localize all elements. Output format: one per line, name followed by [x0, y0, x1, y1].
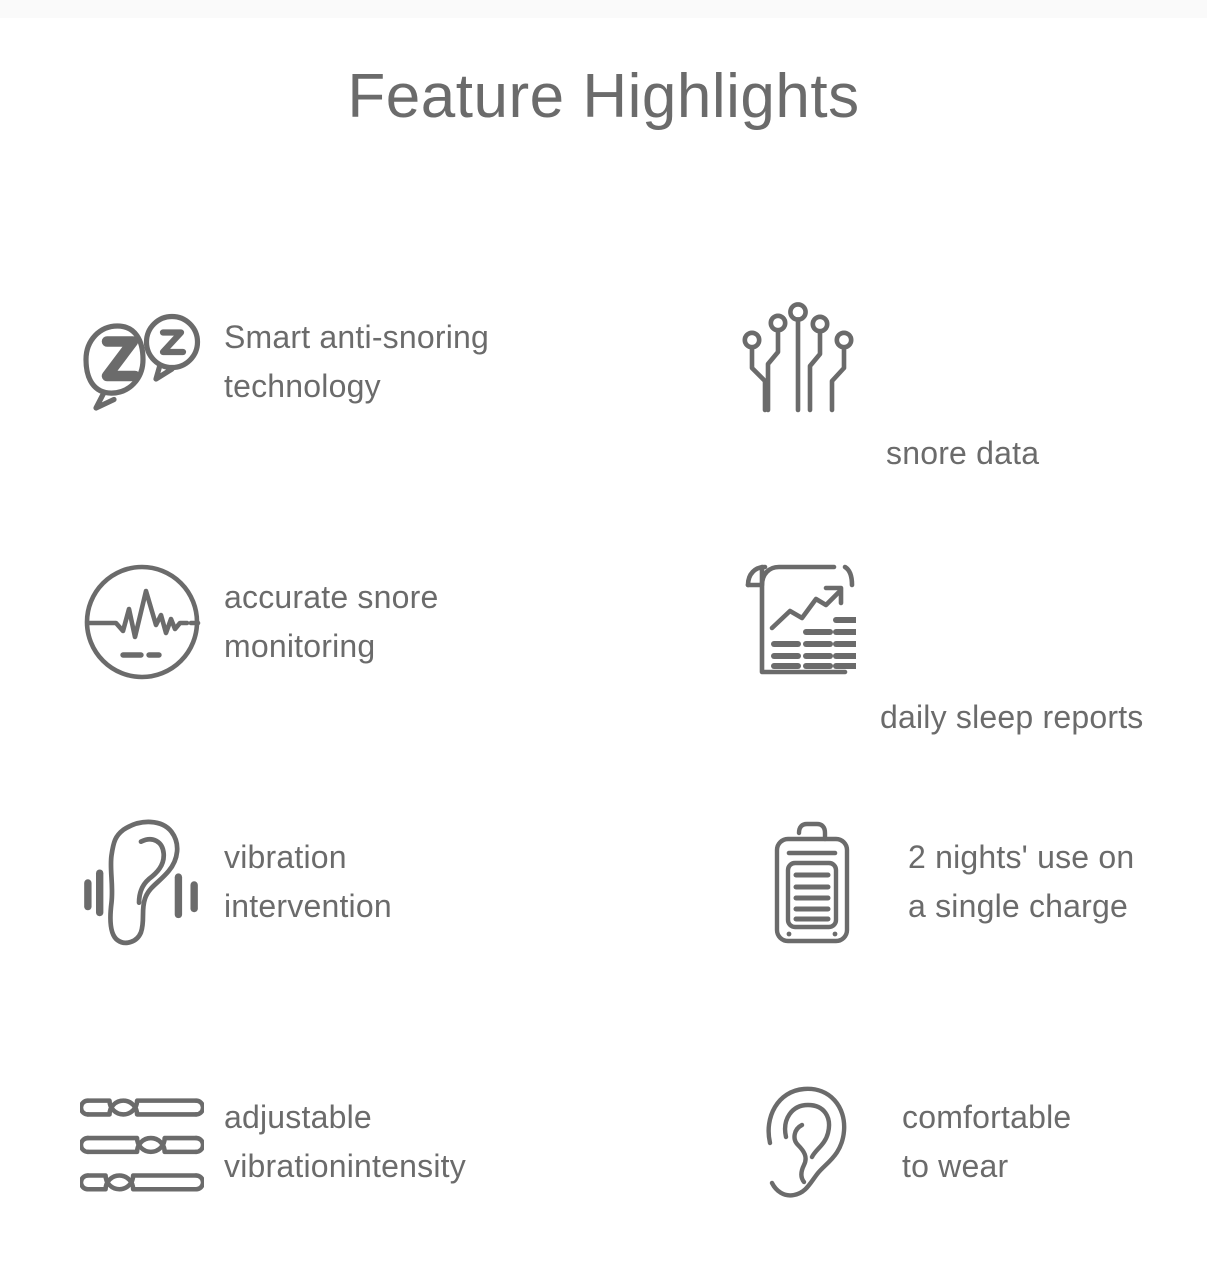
feature-label: vibration intervention	[224, 833, 392, 930]
feature-label: accurate snore monitoring	[224, 573, 438, 670]
circuit-traces-icon	[736, 293, 860, 417]
report-chart-document-icon	[736, 555, 860, 679]
ear-icon	[746, 1080, 870, 1204]
feature-label: comfortable to wear	[902, 1093, 1071, 1190]
feature-grid: Smart anti-snoring technology	[0, 232, 1207, 1272]
ear-vibration-icon	[80, 820, 204, 944]
feature-item-vibration-intervention: vibration intervention	[0, 752, 604, 1012]
feature-item-adjustable-intensity: adjustable vibrationintensity	[0, 1012, 604, 1272]
feature-item-battery-life: 2 nights' use on a single charge	[604, 752, 1207, 1012]
feature-item-snore-data: snore data	[604, 232, 1207, 492]
feature-item-accurate-snore-monitoring: accurate snore monitoring	[0, 492, 604, 752]
feature-label: adjustable vibrationintensity	[224, 1093, 466, 1190]
feature-label: snore data	[886, 429, 1039, 478]
battery-icon	[750, 820, 874, 944]
feature-item-comfortable-to-wear: comfortable to wear	[604, 1012, 1207, 1272]
feature-label: 2 nights' use on a single charge	[908, 833, 1134, 930]
feature-highlights-page: Feature Highlights	[0, 0, 1207, 1283]
zz-speech-bubble-icon	[80, 297, 204, 421]
top-edge-band	[0, 0, 1207, 18]
feature-label: daily sleep reports	[880, 693, 1144, 742]
page-title: Feature Highlights	[0, 64, 1207, 129]
feature-item-smart-anti-snoring: Smart anti-snoring technology	[0, 232, 604, 492]
sliders-icon	[80, 1080, 204, 1204]
feature-item-daily-sleep-reports: daily sleep reports	[604, 492, 1207, 752]
waveform-circle-icon	[80, 560, 204, 684]
feature-label: Smart anti-snoring technology	[224, 313, 489, 410]
